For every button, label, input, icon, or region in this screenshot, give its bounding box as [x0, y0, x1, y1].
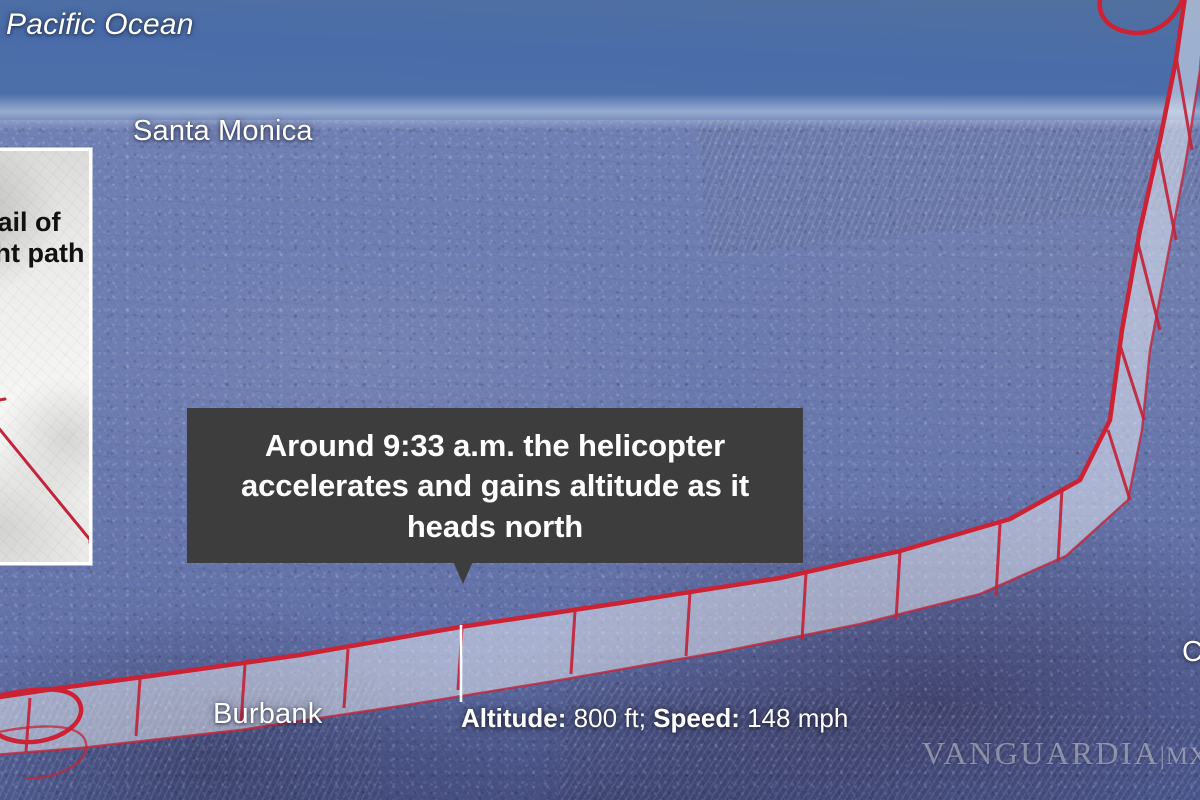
annotation-callout-tail	[452, 559, 474, 584]
annotation-callout-text: Around 9:33 a.m. the helicopter accelera…	[201, 426, 789, 547]
map-label-pacific-ocean: Pacific Ocean	[6, 8, 194, 42]
flight-path-map-graphic: Pacific Ocean Santa Monica Burbank C Alt…	[0, 0, 1200, 800]
inset-detail-map-panel: Detail of flight path	[0, 148, 92, 565]
altitude-value: 800 ft;	[574, 703, 646, 733]
map-label-santa-monica: Santa Monica	[133, 115, 313, 148]
speed-value: 148 mph	[747, 703, 848, 733]
watermark-brand: VANGUARDIA	[922, 735, 1160, 771]
altitude-speed-readout: Altitude: 800 ft; Speed: 148 mph	[461, 703, 848, 734]
vanguardia-watermark: VANGUARDIA|MX	[922, 735, 1200, 772]
annotation-callout: Around 9:33 a.m. the helicopter accelera…	[187, 408, 803, 563]
map-label-burbank: Burbank	[213, 698, 322, 731]
speed-label: Speed:	[653, 703, 740, 733]
watermark-suffix: MX	[1166, 743, 1200, 770]
altitude-label: Altitude:	[461, 703, 566, 733]
map-label-partial-right-edge: C	[1182, 636, 1200, 669]
inset-map-title: Detail of flight path	[0, 207, 92, 270]
